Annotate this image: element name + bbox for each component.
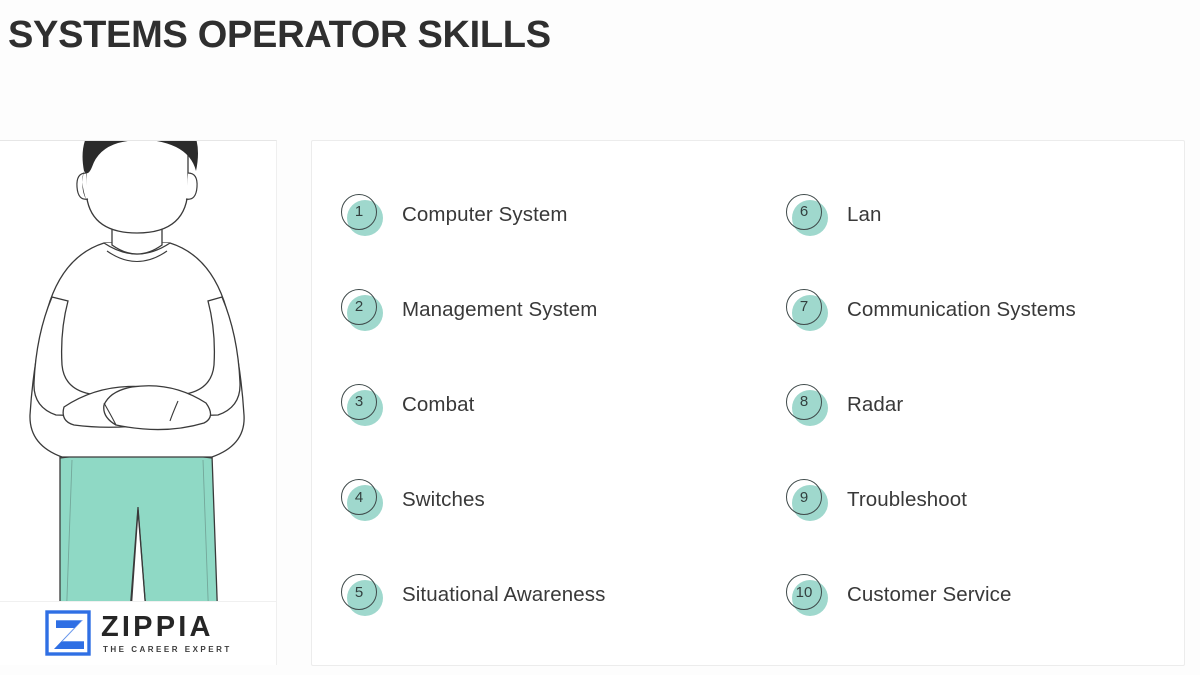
skill-number-badge-6: 6	[785, 193, 829, 237]
skill-item-3[interactable]: 3 Combat	[312, 357, 742, 452]
skill-item-9[interactable]: 9 Troubleshoot	[742, 453, 1184, 548]
brand-text-block: ZIPPIA THE CAREER EXPERT	[101, 613, 232, 654]
skill-number-badge-9: 9	[785, 478, 829, 522]
skill-label: Situational Awareness	[402, 583, 605, 607]
page-title: SYSTEMS OPERATOR SKILLS	[8, 14, 551, 57]
skill-number-badge-2: 2	[340, 288, 384, 332]
brand-wordmark: ZIPPIA	[101, 613, 232, 642]
skills-card: 1 Computer System 2 Management System 3 …	[311, 140, 1185, 666]
skill-item-6[interactable]: 6 Lan	[742, 167, 1184, 262]
skill-number-badge-3: 3	[340, 383, 384, 427]
skill-item-8[interactable]: 8 Radar	[742, 357, 1184, 452]
skill-label: Radar	[847, 393, 903, 417]
skill-label: Troubleshoot	[847, 488, 967, 512]
skill-label: Switches	[402, 488, 485, 512]
skill-number-badge-5: 5	[340, 573, 384, 617]
brand-logo-band: ZIPPIA THE CAREER EXPERT	[0, 601, 277, 665]
person-arms-crossed-illustration	[0, 140, 277, 625]
skill-number-badge-8: 8	[785, 383, 829, 427]
zippia-z-logo-icon	[44, 609, 92, 657]
badge-number-label: 4	[341, 479, 377, 515]
skill-number-badge-1: 1	[340, 193, 384, 237]
skill-label: Lan	[847, 203, 882, 227]
badge-number-label: 7	[786, 289, 822, 325]
brand-tagline: THE CAREER EXPERT	[103, 646, 232, 654]
skill-label: Communication Systems	[847, 298, 1076, 322]
brand-lockup[interactable]: ZIPPIA THE CAREER EXPERT	[44, 609, 232, 657]
badge-number-label: 6	[786, 194, 822, 230]
badge-number-label: 3	[341, 384, 377, 420]
skill-item-10[interactable]: 10 Customer Service	[742, 548, 1184, 643]
badge-number-label: 8	[786, 384, 822, 420]
skill-label: Customer Service	[847, 583, 1012, 607]
skill-label: Management System	[402, 298, 597, 322]
skill-label: Combat	[402, 393, 474, 417]
skill-item-1[interactable]: 1 Computer System	[312, 167, 742, 262]
skill-item-2[interactable]: 2 Management System	[312, 262, 742, 357]
badge-number-label: 9	[786, 479, 822, 515]
skill-item-5[interactable]: 5 Situational Awareness	[312, 548, 742, 643]
badge-number-label: 1	[341, 194, 377, 230]
skill-number-badge-10: 10	[785, 573, 829, 617]
skill-number-badge-4: 4	[340, 478, 384, 522]
skills-grid: 1 Computer System 2 Management System 3 …	[312, 141, 1184, 665]
skill-item-7[interactable]: 7 Communication Systems	[742, 262, 1184, 357]
badge-number-label: 2	[341, 289, 377, 325]
illustration-panel: ZIPPIA THE CAREER EXPERT	[0, 140, 277, 665]
skill-item-4[interactable]: 4 Switches	[312, 453, 742, 548]
skill-number-badge-7: 7	[785, 288, 829, 332]
badge-number-label: 5	[341, 574, 377, 610]
skill-label: Computer System	[402, 203, 568, 227]
badge-number-label: 10	[786, 574, 822, 610]
